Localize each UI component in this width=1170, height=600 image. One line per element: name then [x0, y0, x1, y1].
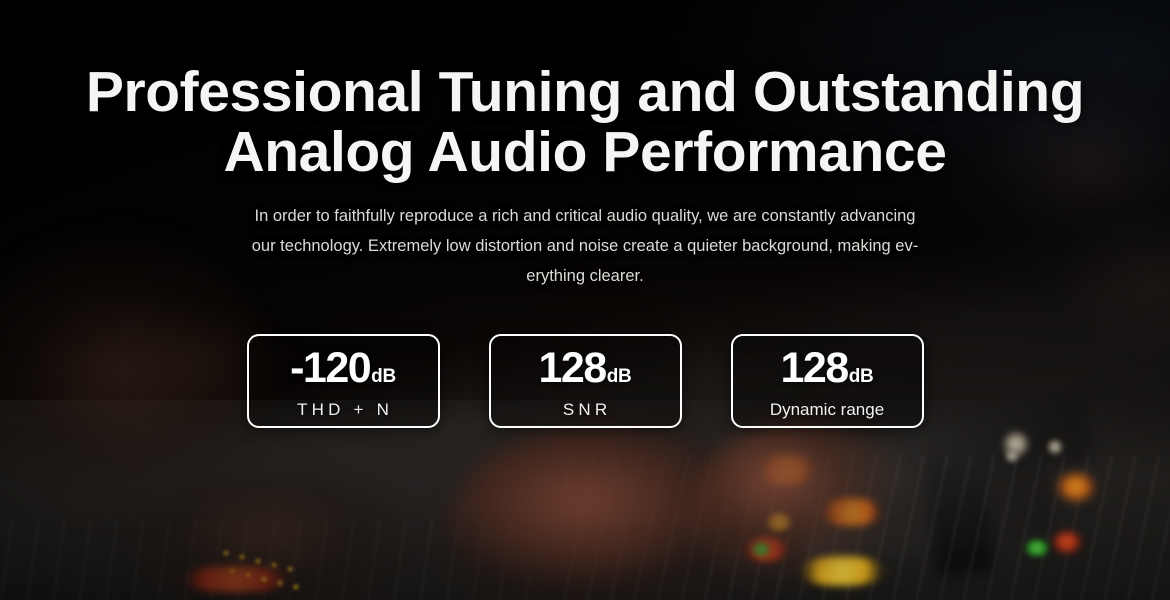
- spec-stat-value: 128 dB: [539, 347, 632, 390]
- spec-stat-value: -120 dB: [290, 347, 396, 390]
- hero-description: In order to faithfully reproduce a rich …: [190, 201, 980, 291]
- spec-stat-label: Dynamic range: [770, 401, 884, 418]
- hero-description-line-1: In order to faithfully reproduce a rich …: [190, 201, 980, 231]
- spec-stat-number: 128: [539, 347, 606, 390]
- spec-stat-number: -120: [290, 347, 370, 390]
- spec-stat-value: 128 dB: [781, 347, 874, 390]
- spec-stat-thd-n: -120 dB THD + N: [247, 334, 440, 428]
- spec-stat-unit: dB: [849, 367, 874, 386]
- spec-stat-number: 128: [781, 347, 848, 390]
- hero-content: Professional Tuning and Outstanding Anal…: [0, 0, 1170, 600]
- spec-stat-unit: dB: [607, 367, 632, 386]
- page-title-line-2: Analog Audio Performance: [0, 122, 1170, 182]
- spec-stat-list: -120 dB THD + N 128 dB SNR 128 dB Dynami…: [0, 334, 1170, 428]
- spec-stat-label: THD + N: [293, 401, 393, 418]
- spec-stat-unit: dB: [371, 367, 396, 386]
- spec-stat-snr: 128 dB SNR: [489, 334, 682, 428]
- page-title-line-1: Professional Tuning and Outstanding: [0, 62, 1170, 122]
- hero-description-line-3: erything clearer.: [190, 261, 980, 291]
- hero-description-line-2: our technology. Extremely low distortion…: [190, 231, 980, 261]
- page-title: Professional Tuning and Outstanding Anal…: [0, 0, 1170, 182]
- spec-stat-dynamic-range: 128 dB Dynamic range: [731, 334, 924, 428]
- hero-banner: Professional Tuning and Outstanding Anal…: [0, 0, 1170, 600]
- spec-stat-label: SNR: [559, 401, 612, 418]
